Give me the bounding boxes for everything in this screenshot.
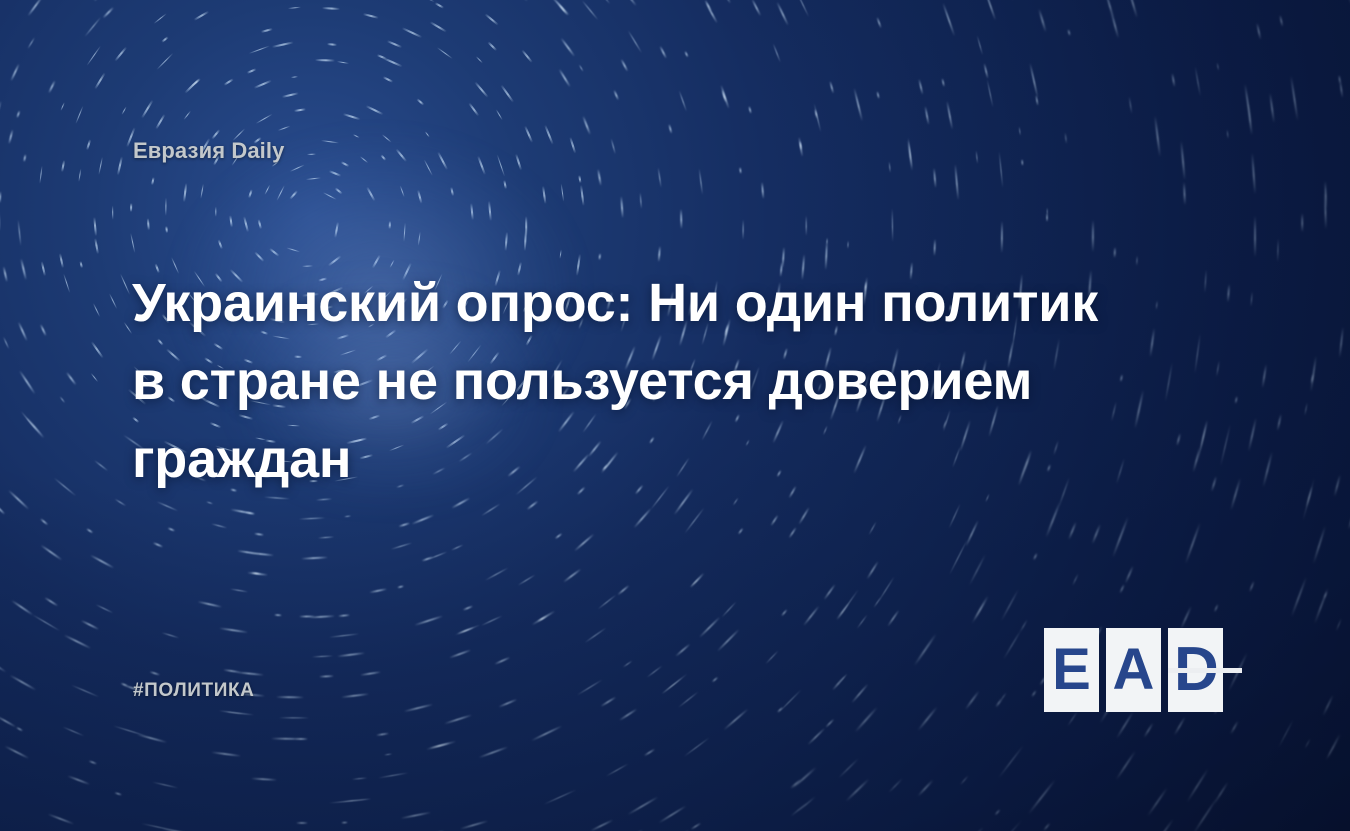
headline: Украинский опрос: Ни один политик в стра…: [132, 264, 1142, 498]
logo-tile-e: E: [1044, 628, 1099, 712]
logo-tile-a: A: [1106, 628, 1161, 712]
social-share-card: Евразия Daily Украинский опрос: Ни один …: [0, 0, 1350, 831]
logo-letter-e: E: [1052, 641, 1091, 699]
brand-name: Евразия Daily: [133, 138, 284, 164]
logo-tile-d-seam: [1168, 668, 1242, 673]
logo-letter-a: A: [1113, 641, 1155, 699]
headline-line-2: в стране не пользуется доверием: [132, 342, 1142, 420]
headline-line-3: граждан: [132, 420, 1142, 498]
headline-line-1: Украинский опрос: Ни один политик: [132, 264, 1142, 342]
category-hashtag[interactable]: #ПОЛИТИКА: [133, 680, 255, 702]
logo-tile-d: D: [1168, 628, 1223, 712]
eadaily-logo[interactable]: E A D: [1044, 628, 1230, 712]
